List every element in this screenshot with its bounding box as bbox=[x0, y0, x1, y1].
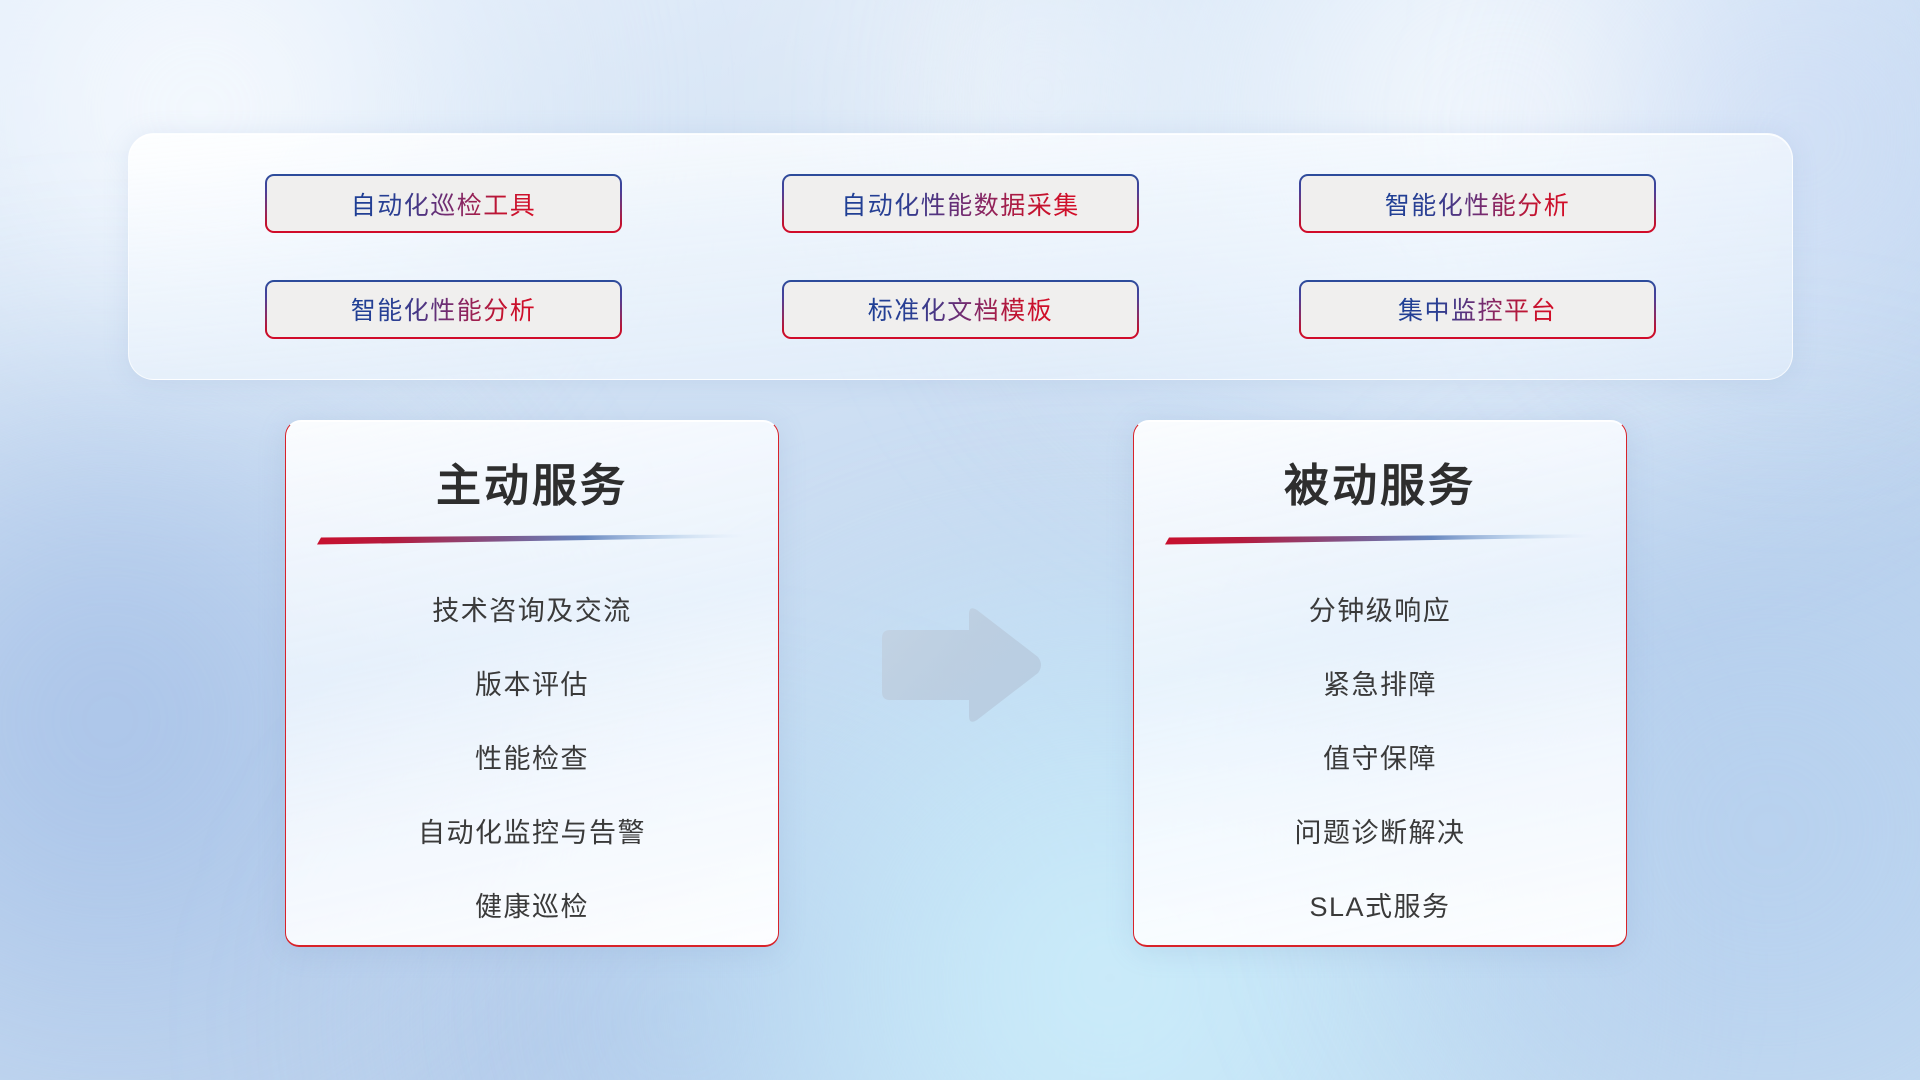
capability-pill[interactable]: 集中监控平台 bbox=[1299, 280, 1656, 339]
service-item-list: 分钟级响应 紧急排障 值守保障 问题诊断解决 SLA式服务 bbox=[1134, 546, 1626, 935]
capability-pill-body: 智能化性能分析 bbox=[267, 282, 620, 337]
capability-pill-label: 标准化文档模板 bbox=[868, 291, 1054, 327]
service-list-item: 性能检查 bbox=[475, 732, 589, 787]
service-list-item: 问题诊断解决 bbox=[1295, 806, 1466, 861]
capability-pill-label: 自动化性能数据采集 bbox=[841, 186, 1080, 222]
service-card-passive: 被动服务 分钟级响应 紧急排障 值守保障 bbox=[1133, 420, 1627, 947]
title-divider bbox=[1165, 533, 1595, 546]
capability-pill-grid: 自动化巡检工具 自动化性能数据采集 智能化性能分析 智能化性能分析 标准化文档模… bbox=[129, 134, 1792, 379]
service-card-title: 被动服务 bbox=[1134, 421, 1626, 511]
capability-pill-label: 集中监控平台 bbox=[1398, 291, 1557, 327]
service-card-title: 主动服务 bbox=[286, 421, 778, 511]
capability-pill[interactable]: 智能化性能分析 bbox=[1299, 174, 1656, 233]
service-list-item: 分钟级响应 bbox=[1309, 584, 1452, 639]
service-list-item: SLA式服务 bbox=[1309, 880, 1450, 935]
capability-panel: 自动化巡检工具 自动化性能数据采集 智能化性能分析 智能化性能分析 标准化文档模… bbox=[128, 133, 1793, 380]
capability-pill-label: 智能化性能分析 bbox=[351, 291, 537, 327]
service-card-active: 主动服务 技术咨询及交流 版本评估 性能检查 bbox=[285, 420, 779, 947]
service-item-list: 技术咨询及交流 版本评估 性能检查 自动化监控与告警 健康巡检 bbox=[286, 546, 778, 935]
service-list-item: 技术咨询及交流 bbox=[432, 584, 632, 639]
capability-pill[interactable]: 标准化文档模板 bbox=[782, 280, 1139, 339]
capability-pill-body: 智能化性能分析 bbox=[1301, 176, 1654, 231]
service-list-item: 自动化监控与告警 bbox=[418, 806, 646, 861]
title-divider bbox=[317, 533, 747, 546]
capability-pill-label: 智能化性能分析 bbox=[1385, 186, 1571, 222]
capability-pill-body: 自动化性能数据采集 bbox=[784, 176, 1137, 231]
capability-pill-body: 标准化文档模板 bbox=[784, 282, 1137, 337]
capability-pill[interactable]: 自动化性能数据采集 bbox=[782, 174, 1139, 233]
capability-pill-body: 自动化巡检工具 bbox=[267, 176, 620, 231]
capability-pill-label: 自动化巡检工具 bbox=[351, 186, 537, 222]
capability-pill[interactable]: 自动化巡检工具 bbox=[265, 174, 622, 233]
right-arrow-icon bbox=[876, 605, 1043, 725]
service-list-item: 值守保障 bbox=[1323, 732, 1437, 787]
service-list-item: 版本评估 bbox=[475, 658, 589, 713]
capability-pill-body: 集中监控平台 bbox=[1301, 282, 1654, 337]
service-list-item: 健康巡检 bbox=[475, 880, 589, 935]
service-list-item: 紧急排障 bbox=[1323, 658, 1437, 713]
capability-pill[interactable]: 智能化性能分析 bbox=[265, 280, 622, 339]
